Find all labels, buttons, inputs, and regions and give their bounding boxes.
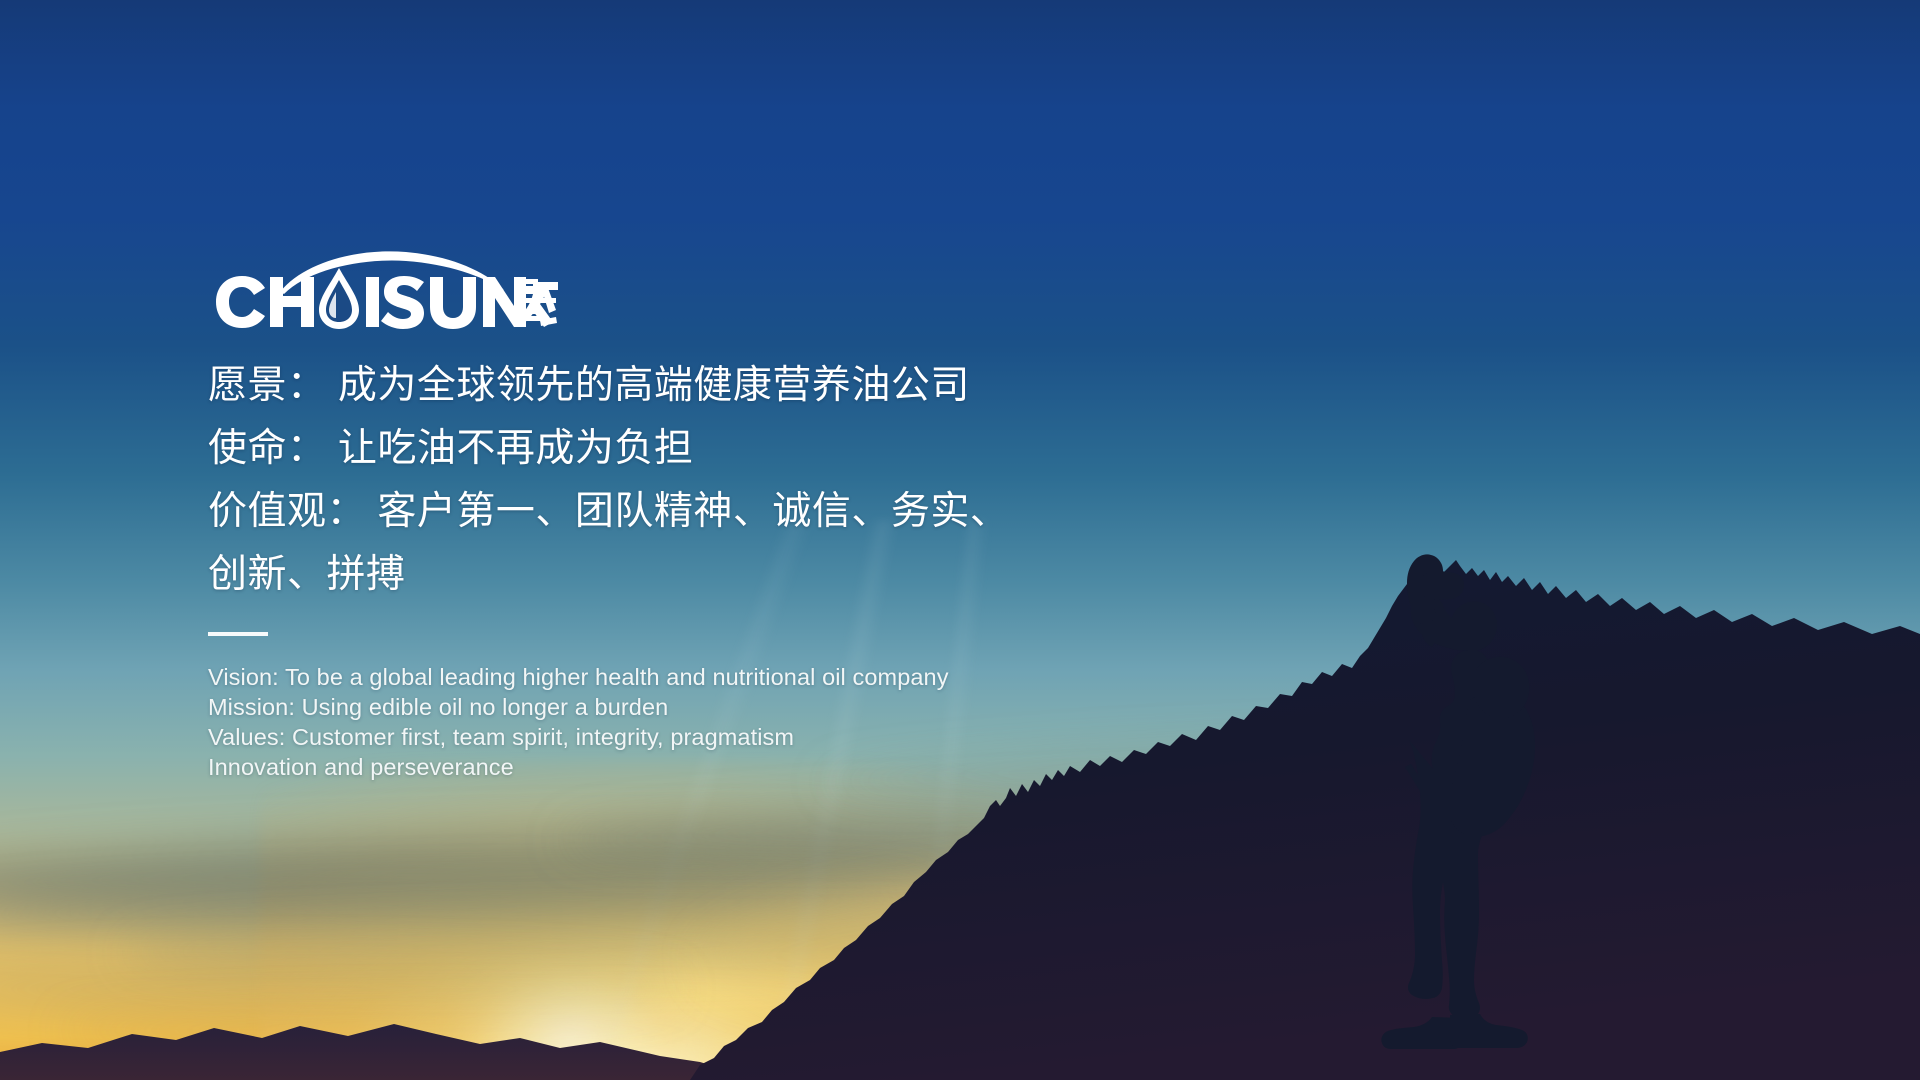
vision-mission-values-en: Vision: To be a global leading higher he…: [208, 662, 1268, 782]
section-divider: [208, 632, 268, 636]
statement-en-vision: Vision: To be a global leading higher he…: [208, 662, 1268, 692]
statement-en-values-cont: Innovation and perseverance: [208, 752, 1268, 782]
water-droplet-icon: [319, 268, 359, 329]
logo-cn-char-sheng: [512, 276, 560, 328]
far-ridge: [0, 1024, 760, 1080]
statement-cn-values: 价值观： 客户第一、团队精神、诚信、务实、: [208, 480, 1268, 543]
statement-en-mission: Mission: Using edible oil no longer a bu…: [208, 692, 1268, 722]
slide-canvas: 愿景： 成为全球领先的高端健康营养油公司 使命： 让吃油不再成为负担 价值观： …: [0, 0, 1920, 1080]
statement-cn-values-cont: 创新、拼搏: [208, 543, 1268, 606]
logo-artwork: [208, 246, 558, 332]
statement-cn-mission: 使命： 让吃油不再成为负担: [208, 417, 1268, 480]
brand-logo[interactable]: [208, 246, 558, 332]
statement-en-values: Values: Customer first, team spirit, int…: [208, 722, 1268, 752]
statement-cn-vision: 愿景： 成为全球领先的高端健康营养油公司: [208, 354, 1268, 417]
vision-mission-values-cn: 愿景： 成为全球领先的高端健康营养油公司 使命： 让吃油不再成为负担 价值观： …: [208, 354, 1268, 606]
slide-content: 愿景： 成为全球领先的高端健康营养油公司 使命： 让吃油不再成为负担 价值观： …: [208, 246, 1268, 782]
